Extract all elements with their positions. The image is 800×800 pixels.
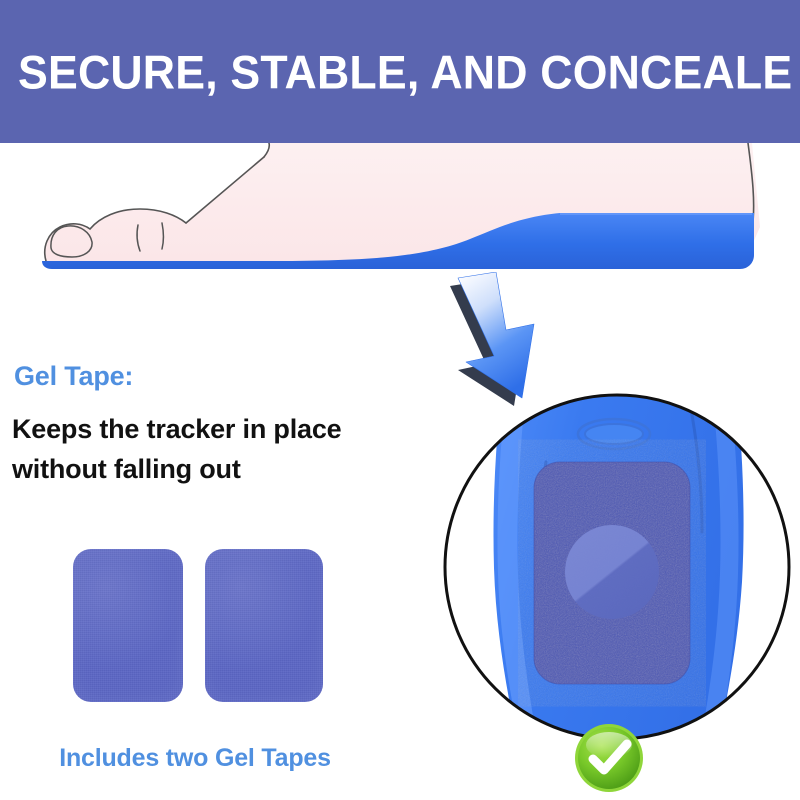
drainage-hole-inner [585,424,643,444]
header-banner: SECURE, STABLE, AND CONCEALE [0,0,800,143]
banner-title-wrap: SECURE, STABLE, AND CONCEALE [18,48,800,95]
down-arrow [440,272,590,412]
description-line-1: Keeps the tracker in place [12,410,442,450]
page-title: SECURE, STABLE, AND CONCEALE [18,48,792,95]
gel-tape-pad-right [205,549,323,702]
down-arrow-icon [440,272,590,412]
gel-tape-pad-left [73,549,183,702]
foot-side-profile-illustration [0,143,800,293]
arrow-shape [458,272,534,398]
check-badge-icon [573,722,645,794]
product-feature-image: SECURE, STABLE, AND CONCEALE [0,0,800,800]
magnified-detail-circle [442,392,792,742]
gel-tapes-caption: Includes two Gel Tapes [0,744,390,773]
foot-illustration [0,143,800,288]
green-check-badge [573,722,645,794]
gel-tape-heading: Gel Tape: [14,362,133,392]
magnifier-svg [442,392,792,742]
gel-tape-description: Keeps the tracker in place without falli… [12,410,442,490]
tracker-disc [565,525,659,619]
description-line-2: without falling out [12,450,442,490]
